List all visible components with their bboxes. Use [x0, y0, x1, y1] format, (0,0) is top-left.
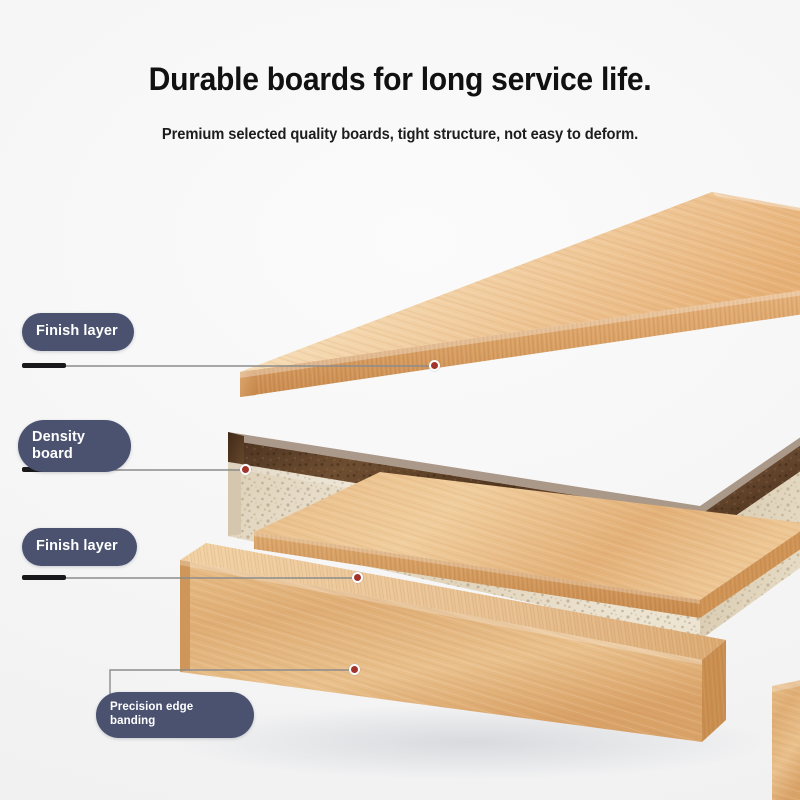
header: Durable boards for long service life. Pr…	[0, 62, 800, 144]
callout-label-line1: Finish layer	[36, 538, 118, 555]
leader-stub-finish-layer-bottom	[22, 575, 66, 580]
callout-label-line2: board	[32, 446, 73, 463]
marker-dot-finish-layer-top	[429, 360, 440, 371]
marker-dot-density-board	[240, 464, 251, 475]
callout-density-board[interactable]: Density board	[18, 420, 131, 472]
marker-dot-precision-edge-banding	[349, 664, 360, 675]
callout-finish-layer-top[interactable]: Finish layer	[22, 313, 134, 351]
callout-label-line2: banding	[110, 715, 155, 729]
infographic-canvas: Durable boards for long service life. Pr…	[0, 0, 800, 800]
leader-stub-finish-layer-top	[22, 363, 66, 368]
page-title: Durable boards for long service life.	[24, 62, 776, 98]
callout-finish-layer-bottom[interactable]: Finish layer	[22, 528, 137, 566]
page-subtitle: Premium selected quality boards, tight s…	[20, 126, 780, 144]
callout-label-line1: Precision edge	[110, 701, 193, 715]
callout-precision-edge-banding[interactable]: Precision edge banding	[96, 692, 254, 738]
callout-label-line1: Finish layer	[36, 323, 118, 340]
callout-label-line1: Density	[32, 429, 85, 446]
layer-edge-band-offcut	[772, 678, 800, 800]
marker-dot-finish-layer-bottom	[352, 572, 363, 583]
